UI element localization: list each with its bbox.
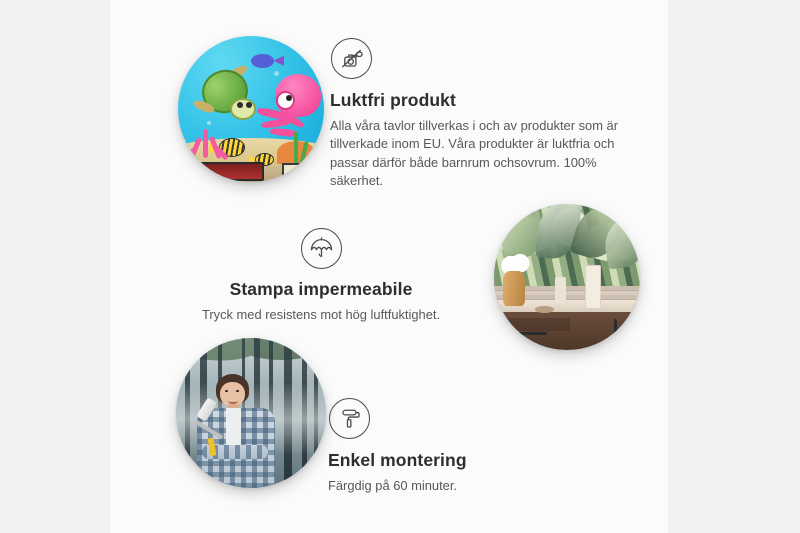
woman-figure	[194, 374, 278, 488]
eye	[236, 390, 239, 392]
feature-title: Stampa impermeabile	[180, 279, 462, 299]
blue-fish-icon	[251, 54, 274, 69]
soap-dispenser	[555, 277, 565, 303]
underwater-illustration	[178, 36, 324, 182]
octopus-icon	[257, 74, 321, 144]
seaweed-icon	[294, 132, 298, 164]
gold-vase	[503, 271, 525, 306]
paint-roller-icon	[329, 398, 370, 439]
page-background: Luktfri produkt Alla våra tavlor tillver…	[0, 0, 800, 533]
cabinet-handle	[614, 319, 617, 342]
turtle-eye	[246, 102, 252, 108]
sea-turtle-icon	[197, 68, 261, 126]
glass-bottle	[585, 265, 601, 309]
feature-title: Luktfri produkt	[330, 90, 630, 110]
no-odour-spray-bottle-icon	[331, 38, 372, 79]
picture-frame	[282, 163, 301, 180]
feature-waterproof-print: Stampa impermeabile Tryck med resistens …	[180, 228, 462, 324]
eye	[225, 390, 228, 392]
feature-easy-mounting: Enkel montering Färgdig på 60 minuter.	[328, 398, 608, 495]
photo-bathroom-tropical-leaf-mural	[494, 204, 640, 350]
red-furniture	[193, 162, 264, 181]
vanity-drawer	[503, 318, 570, 331]
photo-woman-with-paint-roller-forest-mural	[176, 338, 326, 488]
fish-body	[251, 54, 274, 69]
turtle-head	[230, 98, 256, 120]
photo-underwater-kids-mural	[178, 36, 324, 182]
bathroom-illustration	[494, 204, 640, 350]
turtle-eye	[237, 102, 243, 108]
forest-illustration	[176, 338, 326, 488]
feature-description: Alla våra tavlor tillverkas i och av pro…	[330, 117, 630, 190]
feature-title: Enkel montering	[328, 450, 608, 470]
coral-branch	[203, 129, 208, 158]
feature-description: Färgdig på 60 minuter.	[328, 477, 608, 495]
feature-odour-free: Luktfri produkt Alla våra tavlor tillver…	[330, 38, 630, 190]
umbrella-icon	[301, 228, 342, 269]
feature-description: Tryck med resistens mot hög luftfuktighe…	[180, 306, 462, 324]
